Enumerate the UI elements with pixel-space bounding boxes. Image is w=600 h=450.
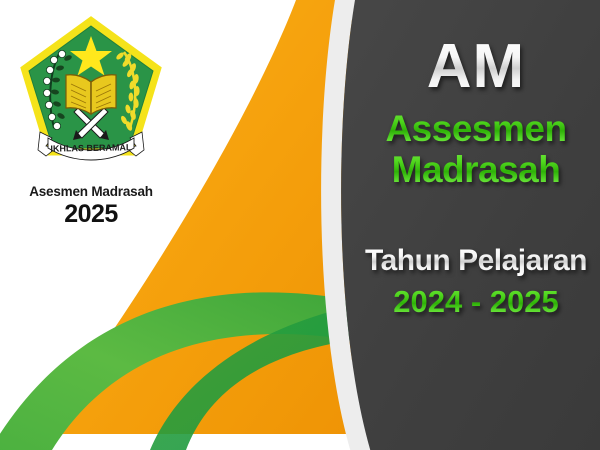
school-year: 2024 - 2025 (352, 286, 600, 317)
logo-year: 2025 (8, 200, 174, 229)
kemenag-logo: IKHLAS BERAMAL (16, 12, 166, 182)
logo-caption: Asesmen Madrasah (8, 184, 174, 199)
title-line-assesmen: Assesmen (352, 110, 600, 147)
subtitle-tahun-pelajaran: Tahun Pelajaran (352, 246, 600, 276)
logo-block: IKHLAS BERAMAL Asesmen Madrasah 2025 (8, 12, 174, 252)
kemenag-emblem-icon: IKHLAS BERAMAL (16, 12, 166, 182)
poster-canvas: IKHLAS BERAMAL Asesmen Madrasah 2025 AM … (0, 0, 600, 450)
abbreviation-am: AM (352, 36, 600, 98)
title-line-madrasah: Madrasah (352, 151, 600, 188)
ribbon-text: IKHLAS BERAMAL (50, 142, 132, 153)
panel-content: AM Assesmen Madrasah Tahun Pelajaran 202… (352, 0, 600, 450)
